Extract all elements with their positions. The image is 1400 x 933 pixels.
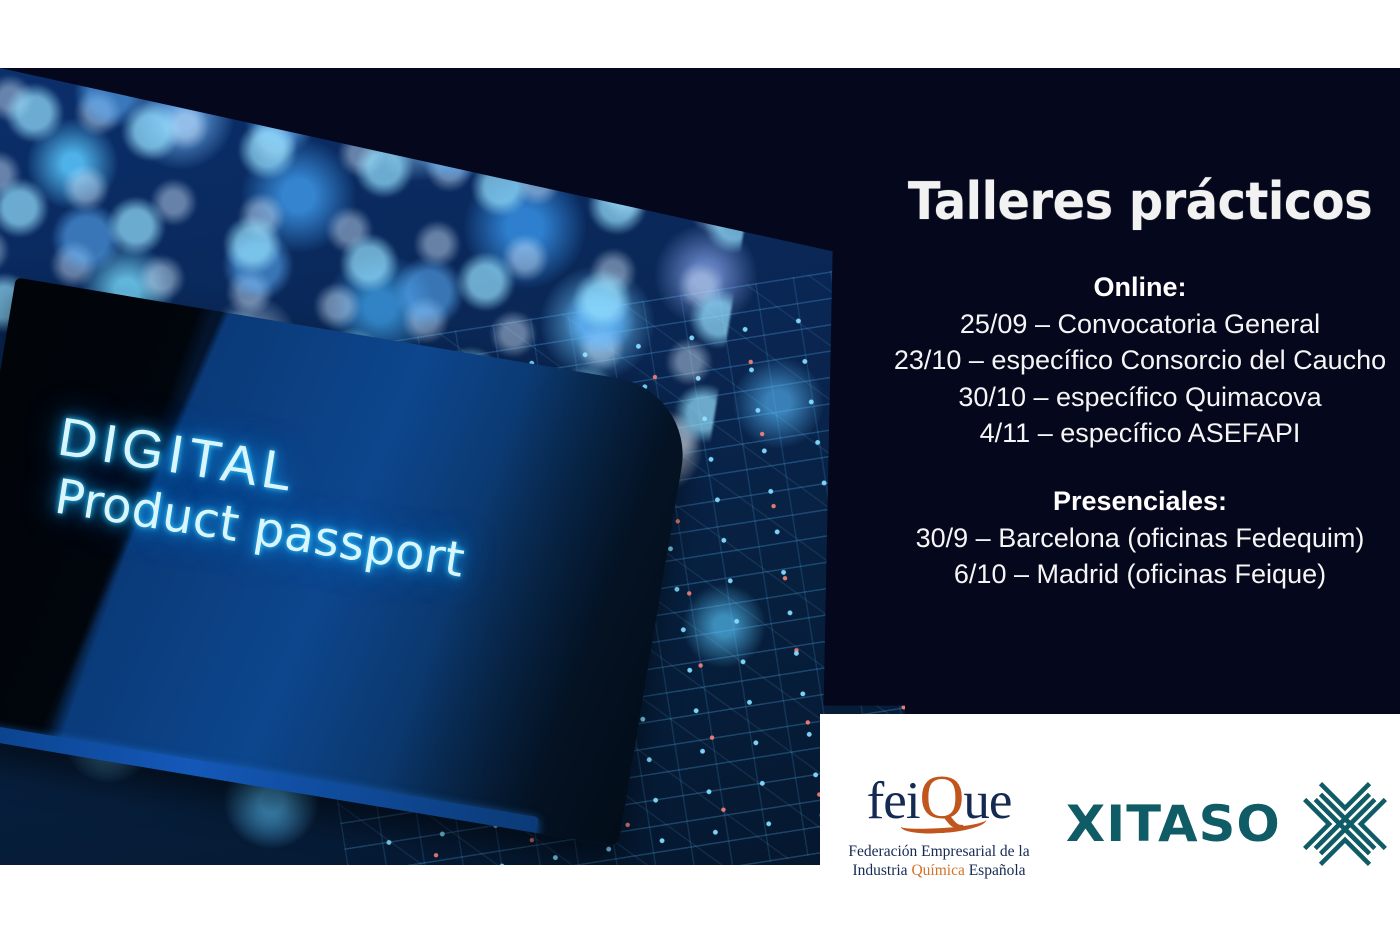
- online-heading: Online:: [880, 272, 1400, 303]
- feique-tagline-line2-a: Industria: [852, 862, 911, 879]
- online-sessions-block: Online: 25/09 – Convocatoria General 23/…: [880, 272, 1400, 452]
- presenciales-item: 6/10 – Madrid (oficinas Feique): [880, 556, 1400, 592]
- in-person-sessions-block: Presenciales: 30/9 – Barcelona (oficinas…: [880, 486, 1400, 593]
- feique-wordmark: feiQue: [844, 767, 1034, 829]
- poster-canvas: DIGITAL Product passport Talleres prácti…: [0, 0, 1400, 933]
- feique-tagline-line1: Federación Empresarial de la: [848, 843, 1029, 860]
- feique-logo: feiQue Federación Empresarial de la Indu…: [844, 767, 1034, 881]
- feique-tagline-line2-c: Española: [965, 862, 1026, 879]
- content-column: Talleres prácticos Online: 25/09 – Convo…: [880, 68, 1400, 714]
- presenciales-heading: Presenciales:: [880, 486, 1400, 517]
- presenciales-item: 30/9 – Barcelona (oficinas Fedequim): [880, 520, 1400, 556]
- online-item: 25/09 – Convocatoria General: [880, 306, 1400, 342]
- online-item: 30/10 – específico Quimacova: [880, 379, 1400, 415]
- feique-tagline-highlight: Química: [911, 862, 964, 879]
- xitaso-logo: XITASO: [1068, 780, 1389, 868]
- xitaso-wordmark: XITASO: [1066, 795, 1281, 853]
- page-title: Talleres prácticos: [901, 172, 1379, 232]
- feique-tagline: Federación Empresarial de la Industria Q…: [844, 843, 1034, 881]
- feique-swoosh-icon: [900, 810, 987, 834]
- online-item: 23/10 – específico Consorcio del Caucho: [880, 342, 1400, 378]
- xitaso-weave-icon: [1301, 780, 1389, 868]
- online-item: 4/11 – específico ASEFAPI: [880, 415, 1400, 451]
- logo-bar: feiQue Federación Empresarial de la Indu…: [820, 714, 1400, 933]
